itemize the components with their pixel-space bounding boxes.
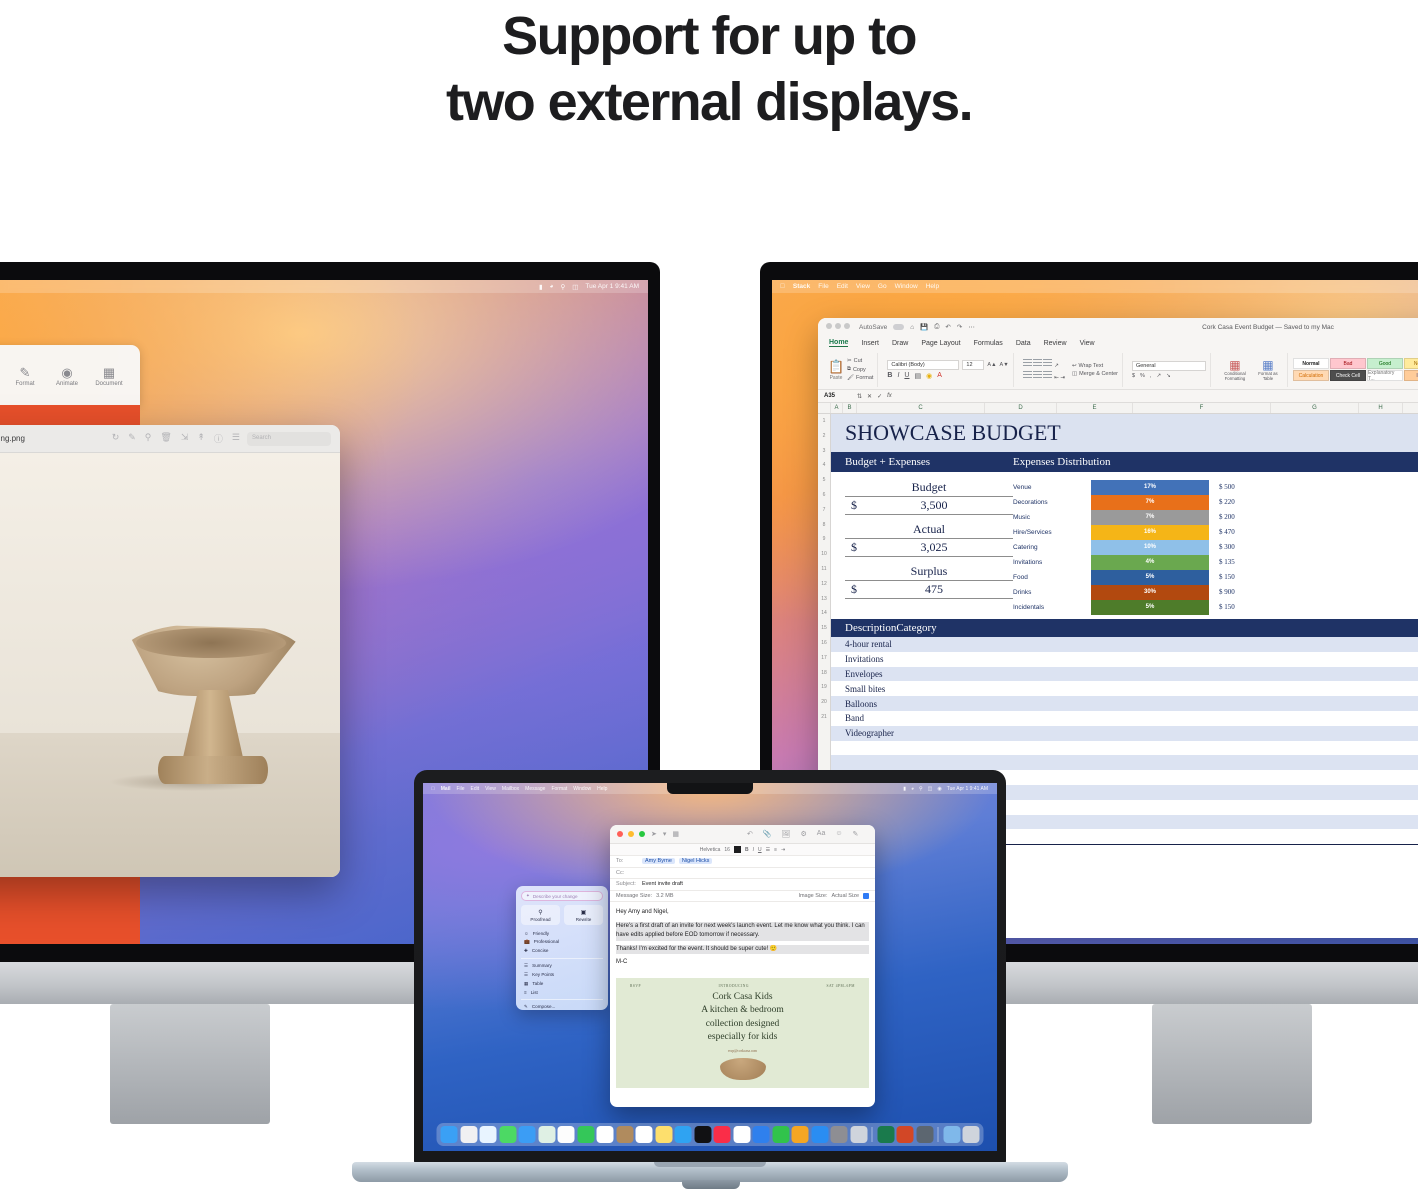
menu-item-help[interactable]: Help [597, 786, 607, 792]
stationery-icon[interactable]: ▦ [672, 830, 679, 838]
chart-amount: $ 200 [1219, 510, 1271, 525]
format-table-label: Table [532, 981, 543, 986]
wrap-text-label: Wrap Text [1079, 363, 1104, 369]
writing-tools-input[interactable]: ✦ Describe your change [521, 891, 603, 901]
scissors-icon: ✂ [847, 358, 852, 364]
search-icon[interactable]: ⚲ [560, 283, 565, 291]
proofread-button[interactable]: ⚲ Proofread [521, 905, 560, 925]
cell-style-calculation[interactable]: Calculation [1293, 370, 1329, 381]
table-row[interactable]: EnvelopesInvitations [831, 667, 1418, 682]
menubar-clock[interactable]: Tue Apr 1 9:41 AM [947, 786, 988, 792]
text-format-icon[interactable]: Aa [817, 830, 826, 838]
row-header[interactable]: 14 [818, 606, 830, 621]
preview-window[interactable]: ▣ ▾ Bowl interior setting.png ↻ ✎ ⚲ 🗑 ⇲ … [0, 425, 340, 877]
appletv-icon[interactable] [694, 1126, 711, 1143]
merge-center-label: Merge & Center [1079, 371, 1118, 377]
display-stand [110, 1004, 270, 1124]
invite-bowl-illustration [720, 1058, 766, 1080]
ribbon-group-clipboard[interactable]: 📋 Paste ✂Cut ⧉Copy 🖌Format [824, 353, 878, 387]
format-icon: ✎ [4, 365, 46, 381]
chart-category-label: Decorations [1013, 495, 1081, 510]
merge-center-button[interactable]: ◫Merge & Center [1072, 371, 1118, 377]
photos-icon[interactable] [558, 1126, 575, 1143]
cell-style-input[interactable]: Input [1404, 370, 1418, 381]
column-E[interactable]: E [1057, 403, 1133, 413]
row-header[interactable]: 13 [818, 592, 830, 607]
cell-style-check-cell[interactable]: Check Cell [1330, 370, 1366, 381]
document-icon: ▦ [88, 365, 130, 381]
italic-button[interactable]: I [897, 372, 899, 379]
chart-category-label: Hire/Services [1013, 525, 1081, 540]
image-size-select[interactable]: Actual Size [831, 893, 859, 899]
row-header[interactable]: 18 [818, 666, 830, 681]
table-row[interactable]: Small bitesFood [831, 681, 1418, 696]
cut-label: Cut [854, 358, 863, 364]
photo-icon[interactable]: 🖼 [782, 830, 791, 838]
expenses-table-header: Description Category [831, 619, 1418, 637]
mail-invite-attachment[interactable]: RSVP INTRODUCING SAT 4PM–6PM Cork Casa K… [616, 978, 869, 1088]
menu-bar-right[interactable]:  Stack File Edit View Go Window Help [772, 280, 1418, 293]
chart-amount: $ 500 [1219, 480, 1271, 495]
chart-amount: $ 470 [1219, 525, 1271, 540]
mail-size-row: Message Size: 3.2 MB Image Size: Actual … [610, 891, 875, 903]
row-header[interactable]: 10 [818, 547, 830, 562]
align-icon[interactable]: ☰ [766, 847, 770, 853]
autosave-toggle[interactable] [893, 324, 904, 330]
preview-bowl-photo [120, 624, 305, 789]
wrap-text-button[interactable]: ↩Wrap Text [1072, 363, 1118, 369]
mail-format-bar[interactable]: Helvetica 16 B I U ☰ ≡ ⇥ [610, 844, 875, 856]
subject-input[interactable]: Event invite draft [642, 881, 683, 887]
window-traffic-lights[interactable] [826, 323, 853, 331]
format-table[interactable]: ▦Table [521, 979, 603, 988]
mail-attachment-icon[interactable] [916, 1126, 933, 1143]
ribbon-group-number[interactable]: General $ % , ↗ ↘ [1128, 353, 1211, 387]
tone-friendly[interactable]: ☺Friendly [521, 929, 603, 937]
table-row[interactable]: BandMusic [831, 711, 1418, 726]
table-row[interactable]: InvitationsInvitations [831, 652, 1418, 667]
excel-document-title: Cork Casa Event Budget — Saved to my Mac [818, 324, 1418, 331]
toolbar-document-label: Document [95, 381, 122, 387]
header-description: Description [845, 622, 896, 634]
invite-rsvp: RSVP [630, 984, 641, 988]
bold-button[interactable]: B [745, 847, 749, 853]
menu-item-mailbox[interactable]: Mailbox [502, 786, 519, 792]
invite-url: rsvp@corkcasa.com [622, 1049, 863, 1053]
freeform-icon[interactable] [675, 1126, 692, 1143]
vertical-align-row[interactable]: ↗ [1023, 359, 1065, 369]
table-row[interactable]: Hire/Services [831, 741, 1418, 756]
number-format-select[interactable]: General [1132, 361, 1206, 371]
row-header[interactable]: 4 [818, 458, 830, 473]
mail-subject-row[interactable]: Subject: Event invite draft [610, 879, 875, 891]
rewrite-label: Rewrite [576, 917, 592, 922]
row-header[interactable]: 20 [818, 695, 830, 710]
wifi-icon[interactable]: ◕ [550, 283, 554, 290]
news-icon[interactable] [733, 1126, 750, 1143]
cell-style-explanatory[interactable]: Explanatory T... [1367, 370, 1403, 381]
safari-icon[interactable] [480, 1126, 497, 1143]
format-font-size[interactable]: 16 [724, 847, 730, 853]
chevron-down-icon[interactable]: ▾ [663, 830, 667, 838]
image-size-stepper[interactable] [863, 893, 869, 899]
indent-icon[interactable]: ⇥ [781, 847, 785, 853]
horizontal-align-row[interactable]: ⇤ ⇥ [1023, 371, 1065, 381]
excel-icon[interactable] [877, 1126, 894, 1143]
increase-decimal-icon[interactable]: ↗ [1156, 373, 1161, 379]
keynote-tool-row: 🖼Media 🗨Comment ↟Share ✎Format ◉Animate … [0, 360, 140, 387]
mail-paragraph-1: Here's a first draft of an invite for ne… [616, 922, 869, 941]
chart-category-label: Drinks [1013, 585, 1081, 600]
battery-icon[interactable]: ▮ [903, 786, 906, 792]
font-color-icon[interactable]: A [937, 372, 942, 379]
menu-item-file[interactable]: File [456, 786, 464, 792]
chart-bar: 10% [1091, 540, 1209, 555]
column-H[interactable]: H [1359, 403, 1403, 413]
cell-style-normal[interactable]: Normal [1293, 358, 1329, 369]
launchpad-icon[interactable] [460, 1126, 477, 1143]
concise-icon: ✚ [524, 948, 528, 954]
row-header[interactable]: 6 [818, 488, 830, 503]
rotate-icon[interactable]: ↻ [112, 432, 120, 445]
finder-icon[interactable] [441, 1126, 458, 1143]
decrease-font-icon[interactable]: A▼ [1000, 362, 1009, 368]
trash-icon[interactable] [963, 1126, 980, 1143]
print-icon[interactable]: ⎙ [934, 323, 939, 331]
menu-item-help[interactable]: Help [926, 283, 939, 290]
contacts-icon[interactable] [616, 1126, 633, 1143]
borders-icon[interactable]: ▤ [914, 372, 921, 380]
menu-item-edit[interactable]: Edit [471, 786, 480, 792]
zoom-icon[interactable]: ⚲ [145, 432, 152, 445]
laptop-foot [682, 1180, 740, 1189]
trash-icon[interactable]: 🗑 [160, 432, 171, 445]
list-icon[interactable]: ☰ [232, 432, 240, 445]
cell-style-neutral[interactable]: Neutral [1404, 358, 1418, 369]
settings-icon[interactable]: ⚙ [801, 830, 807, 838]
sparkle-icon: ✦ [526, 893, 530, 899]
messages-icon[interactable] [499, 1126, 516, 1143]
mail-toolbar[interactable]: ➤ ▾ ▦ ↶ 📎 🖼 ⚙ Aa ☺ ✎ [610, 825, 875, 844]
menubar-clock[interactable]: Tue Apr 1 9:41 AM [585, 283, 639, 290]
home-icon[interactable]: ⌂ [910, 324, 914, 331]
actual-block: Actual $3,025 [845, 522, 1013, 557]
mail-cc-row[interactable]: Cc: [610, 868, 875, 880]
powerpoint-icon[interactable] [897, 1126, 914, 1143]
headline-line-1: Support for up to [502, 6, 916, 66]
chart-category-label: Catering [1013, 540, 1081, 555]
wifi-icon[interactable]: ◕ [911, 786, 914, 792]
mail-signature: M-C [616, 958, 869, 968]
apple-menu-icon[interactable]:  [780, 283, 785, 290]
comma-icon[interactable]: , [1150, 373, 1152, 379]
toolbar-document[interactable]: ▦Document [88, 365, 130, 387]
tab-view[interactable]: View [1080, 340, 1095, 347]
menu-bar-left[interactable]:  Stack File Edit View Go Window Help ▮ … [0, 280, 648, 293]
column-headers[interactable]: A B C D E F G H I J K [818, 403, 1418, 414]
mail-format-icons[interactable]: ↶ 📎 🖼 ⚙ Aa ☺ ✎ [747, 830, 858, 838]
indent-increase-icon[interactable]: ⇥ [1060, 375, 1065, 381]
tab-formulas[interactable]: Formulas [974, 340, 1003, 347]
font-name-select[interactable]: Calibri (Body) [887, 360, 959, 370]
music-icon[interactable] [714, 1126, 731, 1143]
chart-category-label: Venue [1013, 480, 1081, 495]
table-icon: ▦ [524, 981, 528, 987]
excel-ribbon[interactable]: 📋 Paste ✂Cut ⧉Copy 🖌Format Calibri ( [818, 350, 1418, 390]
toolbar-format[interactable]: ✎Format [4, 365, 46, 387]
copy-button[interactable]: ⧉Copy [847, 366, 873, 373]
search-icon[interactable]: ⚲ [919, 786, 923, 792]
function-icon[interactable]: fx [887, 393, 892, 399]
mail-compose-window[interactable]: ➤ ▾ ▦ ↶ 📎 🖼 ⚙ Aa ☺ ✎ [610, 825, 875, 1107]
redo-icon[interactable]: ↷ [957, 323, 962, 331]
pages-icon[interactable] [792, 1126, 809, 1143]
search-input[interactable]: Search [247, 432, 331, 446]
tab-review[interactable]: Review [1044, 340, 1067, 347]
headline-line-2: two external displays. [0, 70, 1418, 136]
expenses-distribution-chart: VenueDecorationsMusicHire/ServicesCateri… [1013, 480, 1271, 615]
undo-icon[interactable]: ↶ [945, 323, 950, 331]
row-header[interactable]: 21 [818, 710, 830, 725]
recipient-chip[interactable]: Nigel Hicks [679, 858, 713, 864]
fill-color-icon[interactable]: ◉ [926, 372, 932, 380]
resize-icon[interactable]: ⇲ [181, 432, 189, 445]
share-icon[interactable]: ↟ [197, 432, 205, 445]
row-header[interactable]: 17 [818, 651, 830, 666]
decrease-decimal-icon[interactable]: ↘ [1166, 373, 1171, 379]
invite-headline: Cork Casa Kids A kitchen & bedroom colle… [622, 991, 863, 1045]
rewrite-button[interactable]: ▣ Rewrite [564, 905, 603, 925]
format-as-table-button[interactable]: ▦ Format as Table [1253, 358, 1283, 381]
tab-page-layout[interactable]: Page Layout [921, 340, 960, 347]
cell-styles-gallery[interactable]: Normal Bad Good Neutral Calculation Chec… [1293, 358, 1418, 381]
menu-item-stack[interactable]: Stack [793, 283, 810, 290]
table-icon: ▦ [1253, 358, 1283, 372]
chart-bar: 5% [1091, 600, 1209, 615]
format-list[interactable]: ≡List [521, 988, 603, 996]
cell-description: Small bites [845, 684, 1418, 694]
tone-professional[interactable]: 💼Professional [521, 937, 603, 946]
mail-body[interactable]: Hey Amy and Nigel, Here's a first draft … [610, 902, 875, 974]
percent-icon[interactable]: % [1140, 373, 1145, 379]
battery-icon[interactable]: ▮ [539, 283, 543, 291]
conditional-formatting-label: Conditional Formatting [1220, 372, 1250, 381]
row-header[interactable]: 9 [818, 532, 830, 547]
row-header[interactable]: 16 [818, 636, 830, 651]
control-center-icon[interactable]: ◫ [928, 786, 933, 792]
iphone-mirroring-icon[interactable] [850, 1126, 867, 1143]
surplus-block: Surplus $475 [845, 564, 1013, 599]
format-key-points-label: Key Points [532, 972, 554, 977]
reminders-icon[interactable] [636, 1126, 653, 1143]
italic-button[interactable]: I [753, 847, 754, 853]
stepper-icon[interactable]: ⇅ [857, 393, 862, 400]
toolbar-animate-label: Animate [56, 381, 78, 387]
column-F[interactable]: F [1133, 403, 1271, 413]
cell-description: Videographer [845, 728, 1418, 738]
budget-block: Budget $3,500 [845, 480, 1013, 515]
chart-amount: $ 135 [1219, 555, 1271, 570]
control-center-icon[interactable]: ◫ [572, 283, 578, 291]
facetime-icon[interactable] [577, 1126, 594, 1143]
column-G[interactable]: G [1271, 403, 1359, 413]
orientation-icon[interactable]: ↗ [1054, 363, 1059, 369]
tone-concise[interactable]: ✚Concise [521, 946, 603, 955]
menu-item-file[interactable]: File [818, 283, 828, 290]
mail-greeting: Hey Amy and Nigel, [616, 908, 869, 918]
paste-button[interactable]: 📋 Paste [828, 359, 844, 381]
chart-amount: $ 220 [1219, 495, 1271, 510]
table-row[interactable]: BalloonsDecorations [831, 696, 1418, 711]
settings-icon[interactable] [831, 1126, 848, 1143]
text-color-swatch[interactable] [734, 846, 741, 853]
column-C[interactable]: C [857, 403, 985, 413]
downloads-folder-icon[interactable] [943, 1126, 960, 1143]
section-budget-expenses: Budget + Expenses [845, 456, 1013, 468]
proofread-label: Proofread [530, 917, 550, 922]
writing-tools-formats[interactable]: ☰Summary ☰Key Points ▦Table ≡List [521, 961, 603, 996]
row-header[interactable]: 5 [818, 473, 830, 488]
writing-tools-popover[interactable]: ✦ Describe your change ⚲ Proofread ▣ Rew… [516, 886, 608, 1010]
dock[interactable] [437, 1123, 984, 1146]
row-header[interactable]: 7 [818, 503, 830, 518]
autosave-label[interactable]: AutoSave [859, 324, 887, 331]
siri-icon[interactable]: ◉ [937, 786, 941, 792]
calendar-icon[interactable] [597, 1126, 614, 1143]
save-icon[interactable]: 💾 [920, 323, 928, 331]
animate-icon: ◉ [46, 365, 88, 381]
format-painter-button[interactable]: 🖌Format [847, 375, 873, 381]
underline-button[interactable]: U [904, 372, 909, 379]
conditional-formatting-button[interactable]: ▦ Conditional Formatting [1220, 358, 1250, 381]
menu-item-go[interactable]: Go [878, 283, 887, 290]
cell-description: Band [845, 713, 1418, 723]
column-I[interactable]: I [1403, 403, 1418, 413]
markup-icon[interactable]: ✎ [853, 830, 859, 838]
emoji-icon[interactable]: ☺ [835, 830, 842, 838]
underline-button[interactable]: U [758, 847, 762, 853]
undo-icon[interactable]: ↶ [747, 830, 753, 838]
wrap-icon: ↩ [1072, 363, 1077, 369]
overflow-icon[interactable]: ⋯ [968, 323, 975, 331]
table-row[interactable]: 4-hour rentalVenue [831, 637, 1418, 652]
row-header[interactable]: 8 [818, 518, 830, 533]
cc-label: Cc: [616, 870, 638, 876]
mail-to-row[interactable]: To: Amy Byrne Nigel Hicks [610, 856, 875, 868]
writing-tools-primary[interactable]: ⚲ Proofread ▣ Rewrite [521, 905, 603, 925]
row-header[interactable]: 15 [818, 621, 830, 636]
menu-item-view[interactable]: View [485, 786, 496, 792]
toolbar-animate[interactable]: ◉Animate [46, 365, 88, 387]
format-summary[interactable]: ☰Summary [521, 961, 603, 970]
keynote-icon[interactable] [753, 1126, 770, 1143]
format-key-points[interactable]: ☰Key Points [521, 970, 603, 979]
cell-style-good[interactable]: Good [1367, 358, 1403, 369]
font-size-select[interactable]: 12 [962, 360, 984, 370]
table-row[interactable]: Hire/Services [831, 755, 1418, 770]
tab-home[interactable]: Home [829, 339, 848, 347]
row-header[interactable]: 11 [818, 562, 830, 577]
format-font-name[interactable]: Helvetica [700, 847, 721, 853]
name-box[interactable]: A35 [824, 393, 852, 399]
menu-item-window[interactable]: Window [573, 786, 591, 792]
attach-icon[interactable]: 📎 [763, 830, 772, 838]
preview-titlebar[interactable]: ▣ ▾ Bowl interior setting.png ↻ ✎ ⚲ 🗑 ⇲ … [0, 425, 340, 453]
menu-item-window[interactable]: Window [895, 283, 918, 290]
row-header[interactable]: 12 [818, 577, 830, 592]
writing-tools-compose[interactable]: ✎Compose... [521, 1002, 603, 1011]
row-header[interactable]: 2 [818, 429, 830, 444]
row-header[interactable]: 1 [818, 414, 830, 429]
menu-item-format[interactable]: Format [551, 786, 567, 792]
menu-item-view[interactable]: View [856, 283, 870, 290]
cut-button[interactable]: ✂Cut [847, 358, 873, 364]
tab-data[interactable]: Data [1016, 340, 1031, 347]
tab-insert[interactable]: Insert [861, 340, 879, 347]
writing-tools-tones[interactable]: ☺Friendly 💼Professional ✚Concise [521, 929, 603, 955]
notes-icon[interactable] [655, 1126, 672, 1143]
chart-amount: $ 150 [1219, 600, 1271, 615]
ribbon-group-font[interactable]: Calibri (Body) 12 A▲ A▼ B I U ▤ ◉ [883, 353, 1013, 387]
menu-item-mail[interactable]: Mail [441, 786, 451, 792]
confirm-icon[interactable]: ✓ [877, 393, 882, 400]
compose-icon: ✎ [524, 1004, 528, 1010]
excel-titlebar[interactable]: AutoSave ⌂ 💾 ⎙ ↶ ↷ ⋯ Cork Casa Event Bud… [818, 318, 1418, 336]
formula-bar[interactable]: A35 ⇅ ✕ ✓ fx [818, 390, 1418, 403]
bold-button[interactable]: B [887, 372, 892, 379]
mail-icon[interactable] [519, 1126, 536, 1143]
corner-select-all[interactable] [818, 403, 831, 413]
row-header[interactable]: 19 [818, 680, 830, 695]
tab-draw[interactable]: Draw [892, 340, 908, 347]
maps-icon[interactable] [538, 1126, 555, 1143]
recipient-chip[interactable]: Amy Byrne [642, 858, 675, 864]
compose-button[interactable]: ✎Compose... [521, 1002, 603, 1011]
excel-ribbon-tabs[interactable]: Home Insert Draw Page Layout Formulas Da… [818, 336, 1418, 350]
format-list-label: List [531, 990, 538, 995]
row-header[interactable]: 3 [818, 444, 830, 459]
window-traffic-lights[interactable] [617, 831, 645, 837]
column-A[interactable]: A [831, 403, 843, 413]
chart-amount: $ 900 [1219, 585, 1271, 600]
list-icon[interactable]: ≡ [774, 847, 777, 853]
chart-category-label: Invitations [1013, 555, 1081, 570]
menu-item-edit[interactable]: Edit [837, 283, 848, 290]
cancel-icon[interactable]: ✕ [867, 393, 872, 400]
table-row[interactable]: VideographerHire/Services [831, 726, 1418, 741]
macbook-pro:  Mail File Edit View Mailbox Message Fo… [352, 770, 1068, 1200]
increase-font-icon[interactable]: A▲ [987, 362, 996, 368]
ribbon-group-styles[interactable]: ▦ Conditional Formatting ▦ Format as Tab… [1216, 353, 1288, 387]
merge-icon: ◫ [1072, 371, 1077, 377]
appstore-icon[interactable] [811, 1126, 828, 1143]
apple-menu-icon[interactable]:  [431, 786, 435, 792]
column-B[interactable]: B [843, 403, 857, 413]
budget-label: Budget [845, 480, 1013, 497]
keynote-toolbar-window[interactable]: Deck Shared 🖼Media 🗨Comment ↟Share ✎Form… [0, 345, 140, 405]
preview-toolbar-icons[interactable]: ↻ ✎ ⚲ 🗑 ⇲ ↟ ⓘ ☰ [112, 432, 240, 445]
cell-style-bad[interactable]: Bad [1330, 358, 1366, 369]
send-icon[interactable]: ➤ [651, 830, 657, 838]
indent-decrease-icon[interactable]: ⇤ [1054, 375, 1059, 381]
ribbon-group-alignment[interactable]: ↗ ⇤ ⇥ ↩Wrap Text ◫Merge & Center [1019, 353, 1123, 387]
menu-item-message[interactable]: Message [525, 786, 545, 792]
markup-icon[interactable]: ✎ [128, 432, 136, 445]
currency-icon[interactable]: $ [1132, 373, 1135, 379]
info-icon[interactable]: ⓘ [214, 432, 223, 445]
numbers-icon[interactable] [772, 1126, 789, 1143]
column-D[interactable]: D [985, 403, 1057, 413]
